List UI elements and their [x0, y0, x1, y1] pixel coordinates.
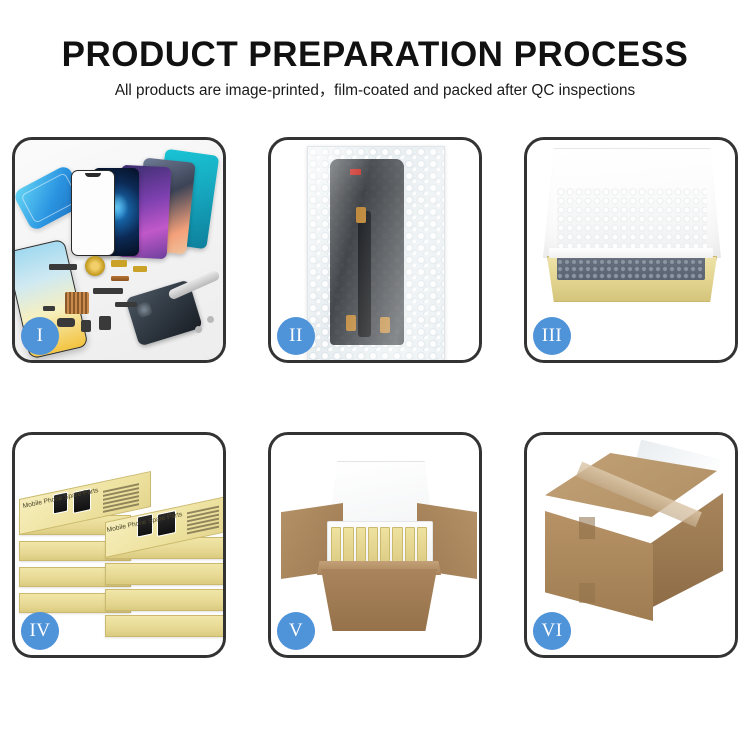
red-label-tab	[350, 169, 361, 175]
step-image-5: V	[271, 435, 479, 655]
camera-part	[57, 318, 75, 327]
flex-cable-image	[358, 211, 371, 337]
step-panel-3: III	[524, 137, 738, 363]
step-image-4: Mobile Phone Spare Parts Mobile Phone Sp…	[15, 435, 223, 655]
button-part	[81, 320, 91, 332]
yellow-boxes-inside-image	[331, 527, 427, 563]
flex-part-b	[111, 260, 127, 267]
carton-flap-seam-lower	[579, 583, 595, 603]
flex-part-a	[49, 264, 77, 270]
tray-lip-image	[549, 248, 713, 258]
step-panel-2: II	[268, 137, 482, 363]
sealed-carton-front	[545, 511, 653, 621]
step-image-2: II	[271, 140, 479, 360]
gold-connector-a	[356, 207, 366, 223]
stacked-box-r4	[105, 615, 223, 637]
step-panel-6: VI	[524, 432, 738, 658]
step-badge-5: V	[277, 612, 315, 650]
step-badge-6: VI	[533, 612, 571, 650]
carton-body-image	[321, 569, 437, 631]
process-steps-grid: I II III	[12, 137, 738, 658]
screw-part-a	[43, 306, 55, 311]
ribbon-part	[93, 288, 123, 294]
bubble-wrap-bag-image	[307, 146, 445, 360]
step-image-6: VI	[527, 435, 735, 655]
page-title: PRODUCT PREPARATION PROCESS	[0, 36, 750, 73]
speaker-coil-part	[85, 256, 105, 276]
page-subtitle: All products are image-printed，film-coat…	[0, 83, 750, 100]
copper-contact-part	[111, 276, 129, 281]
step-badge-2: II	[277, 317, 315, 355]
step-panel-4: Mobile Phone Spare Parts Mobile Phone Sp…	[12, 432, 226, 658]
step-panel-1: I	[12, 137, 226, 363]
step-badge-4: IV	[21, 612, 59, 650]
step-badge-1: I	[21, 317, 59, 355]
step-image-3: III	[527, 140, 735, 360]
page-header: PRODUCT PREPARATION PROCESS All products…	[0, 0, 750, 100]
screw-part-c	[195, 326, 202, 333]
carton-flap-seam-upper	[579, 517, 595, 539]
phone-white-front-image	[71, 170, 115, 256]
foam-sheet-image	[557, 188, 707, 254]
step-image-1: I	[15, 140, 223, 360]
flex-part-c	[133, 266, 147, 272]
stacked-box-r2	[105, 563, 223, 585]
battery-connector-part	[99, 316, 111, 330]
stacked-box-r3	[105, 589, 223, 611]
screw-part-d	[207, 316, 214, 323]
screw-part-b	[115, 302, 137, 307]
step-badge-3: III	[533, 317, 571, 355]
gold-connector-b	[346, 315, 356, 331]
gold-connector-c	[380, 317, 390, 333]
step-panel-5: V	[268, 432, 482, 658]
chip-array-part	[65, 292, 89, 314]
